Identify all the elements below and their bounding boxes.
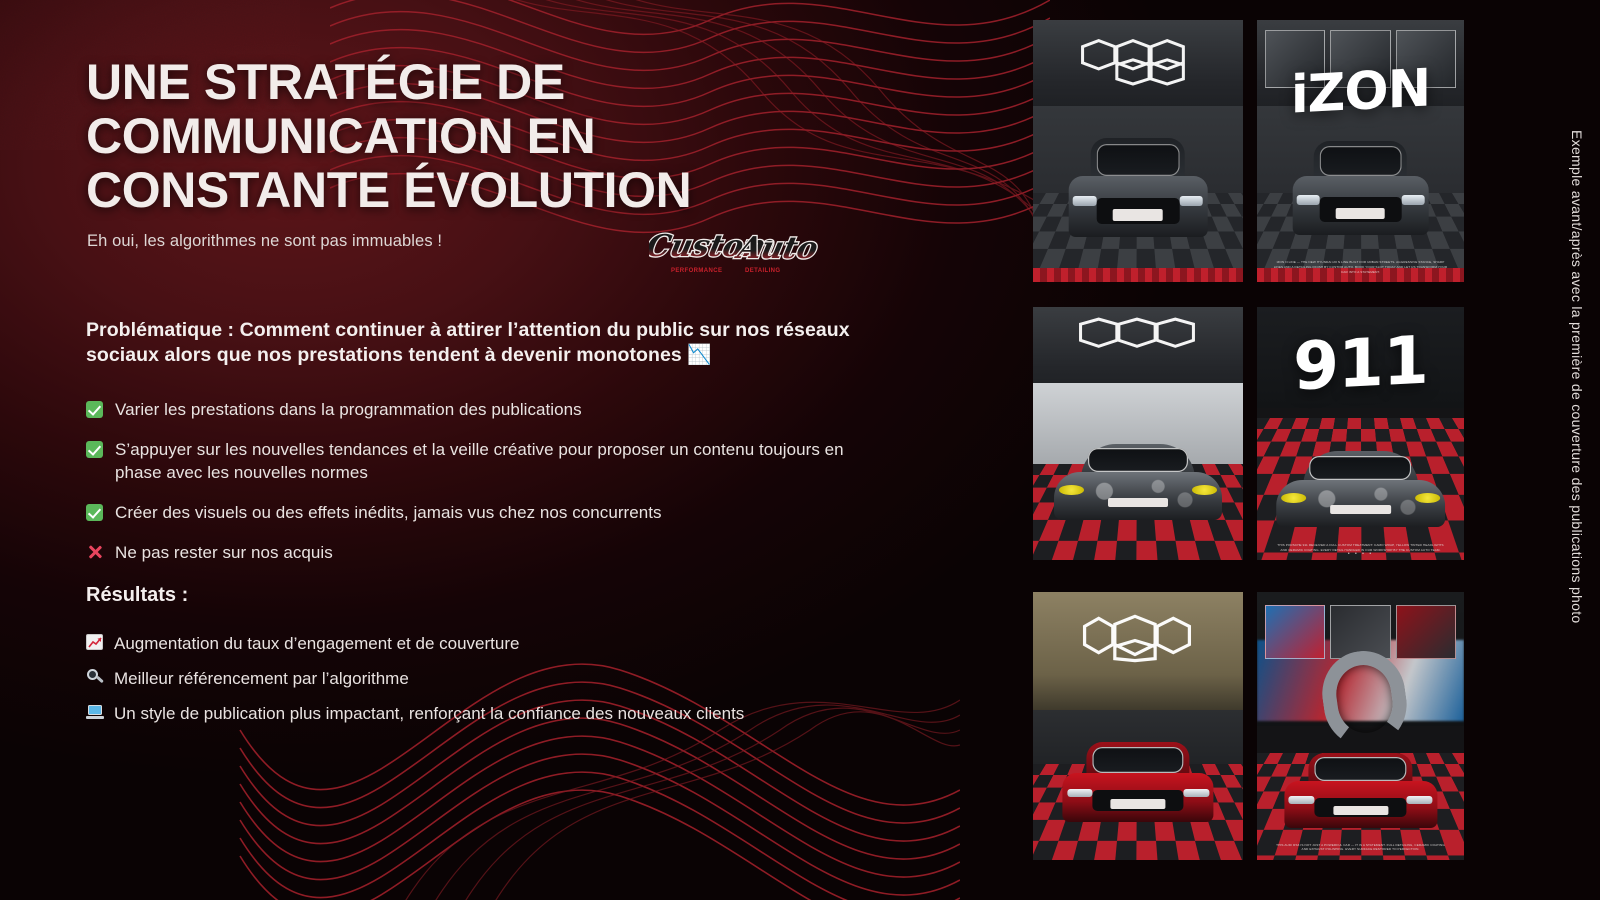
- photo-row: iZON IZON N LINE — THE NEW HYUNDAI i20 N…: [1033, 20, 1501, 282]
- photo-grid: iZON IZON N LINE — THE NEW HYUNDAI i20 N…: [1033, 20, 1501, 860]
- list-item-label: Meilleur référencement par l’algorithme: [114, 667, 846, 690]
- list-item: Créer des visuels ou des effets inédits,…: [86, 501, 886, 524]
- overlay-caption: THIS AUDI RS3 IS NOT JUST A POWERFUL CAR…: [1274, 843, 1448, 852]
- svg-text:DETAILING: DETAILING: [745, 268, 781, 274]
- car-silhouette: [1284, 753, 1437, 828]
- vertical-caption: Exemple avant/après avec la première de …: [1564, 130, 1590, 830]
- slide-canvas: UNE STRATÉGIE DE COMMUNICATION EN CONSTA…: [0, 0, 1600, 900]
- laptop-icon: [86, 702, 109, 724]
- car-silhouette: [1054, 444, 1222, 520]
- list-item-label: Ne pas rester sur nos acquis: [115, 541, 886, 564]
- photo-audi-rs3-after[interactable]: THIS AUDI RS3 IS NOT JUST A POWERFUL CAR…: [1257, 592, 1464, 860]
- car-silhouette: [1276, 451, 1446, 527]
- list-item-label: Varier les prestations dans la programma…: [115, 398, 886, 421]
- list-item-label: Un style de publication plus impactant, …: [114, 702, 846, 725]
- list-item: Un style de publication plus impactant, …: [86, 702, 846, 725]
- carousel-dots: • • • •: [1257, 551, 1464, 557]
- car-silhouette: [1069, 138, 1208, 238]
- photo-hyundai-i20-after[interactable]: iZON IZON N LINE — THE NEW HYUNDAI i20 N…: [1257, 20, 1464, 282]
- list-item: Ne pas rester sur nos acquis: [86, 541, 886, 564]
- chart-increasing-icon: [86, 632, 109, 654]
- subtitle: Eh oui, les algorithmes ne sont pas immu…: [87, 232, 442, 251]
- list-item: Augmentation du taux d’engagement et de …: [86, 632, 846, 655]
- svg-text:Auto: Auto: [732, 231, 819, 266]
- hex-light-icon: [1062, 33, 1213, 91]
- check-icon: [86, 502, 109, 524]
- photo-porsche-911-after[interactable]: 911 THIS PORSCHE 911 RECEIVED A FULL CUS…: [1257, 307, 1464, 560]
- photo-hyundai-i20-before[interactable]: [1033, 20, 1243, 282]
- check-icon: [86, 439, 109, 461]
- problem-statement: Problématique : Comment continuer à atti…: [86, 318, 876, 368]
- photo-row: 911 THIS PORSCHE 911 RECEIVED A FULL CUS…: [1033, 307, 1501, 560]
- list-item-label: S’appuyer sur les nouvelles tendances et…: [115, 438, 886, 484]
- hex-light-icon: [1062, 315, 1213, 355]
- car-silhouette: [1292, 141, 1429, 235]
- photo-audi-rs3-before[interactable]: [1033, 592, 1243, 860]
- bullet-list: Varier les prestations dans la programma…: [86, 398, 886, 581]
- photo-porsche-911-before[interactable]: [1033, 307, 1243, 560]
- photo-row: THIS AUDI RS3 IS NOT JUST A POWERFUL CAR…: [1033, 592, 1501, 860]
- magnifying-glass-icon: [86, 667, 109, 689]
- svg-text:PERFORMANCE: PERFORMANCE: [671, 268, 722, 274]
- car-silhouette: [1062, 742, 1213, 822]
- check-icon: [86, 399, 109, 421]
- hex-light-icon: [1062, 608, 1213, 667]
- results-list: Augmentation du taux d’engagement et de …: [86, 632, 846, 737]
- cross-icon: [86, 542, 109, 564]
- results-title: Résultats :: [86, 584, 188, 607]
- page-title: UNE STRATÉGIE DE COMMUNICATION EN CONSTA…: [86, 55, 866, 217]
- list-item: S’appuyer sur les nouvelles tendances et…: [86, 438, 886, 484]
- overlay-caption: IZON N LINE — THE NEW HYUNDAI i20 N LINE…: [1274, 260, 1448, 274]
- overlay-word: iZON: [1257, 56, 1464, 127]
- list-item-label: Créer des visuels ou des effets inédits,…: [115, 501, 886, 524]
- list-item: Varier les prestations dans la programma…: [86, 398, 886, 421]
- problem-statement-block: Problématique : Comment continuer à atti…: [86, 318, 876, 368]
- list-item-label: Augmentation du taux d’engagement et de …: [114, 632, 846, 655]
- custom-auto-logo: Custom Custom Auto Auto PERFORMANCE DETA…: [649, 222, 819, 284]
- list-item: Meilleur référencement par l’algorithme: [86, 667, 846, 690]
- overlay-word: 911: [1257, 319, 1464, 407]
- content-column: UNE STRATÉGIE DE COMMUNICATION EN CONSTA…: [86, 0, 986, 900]
